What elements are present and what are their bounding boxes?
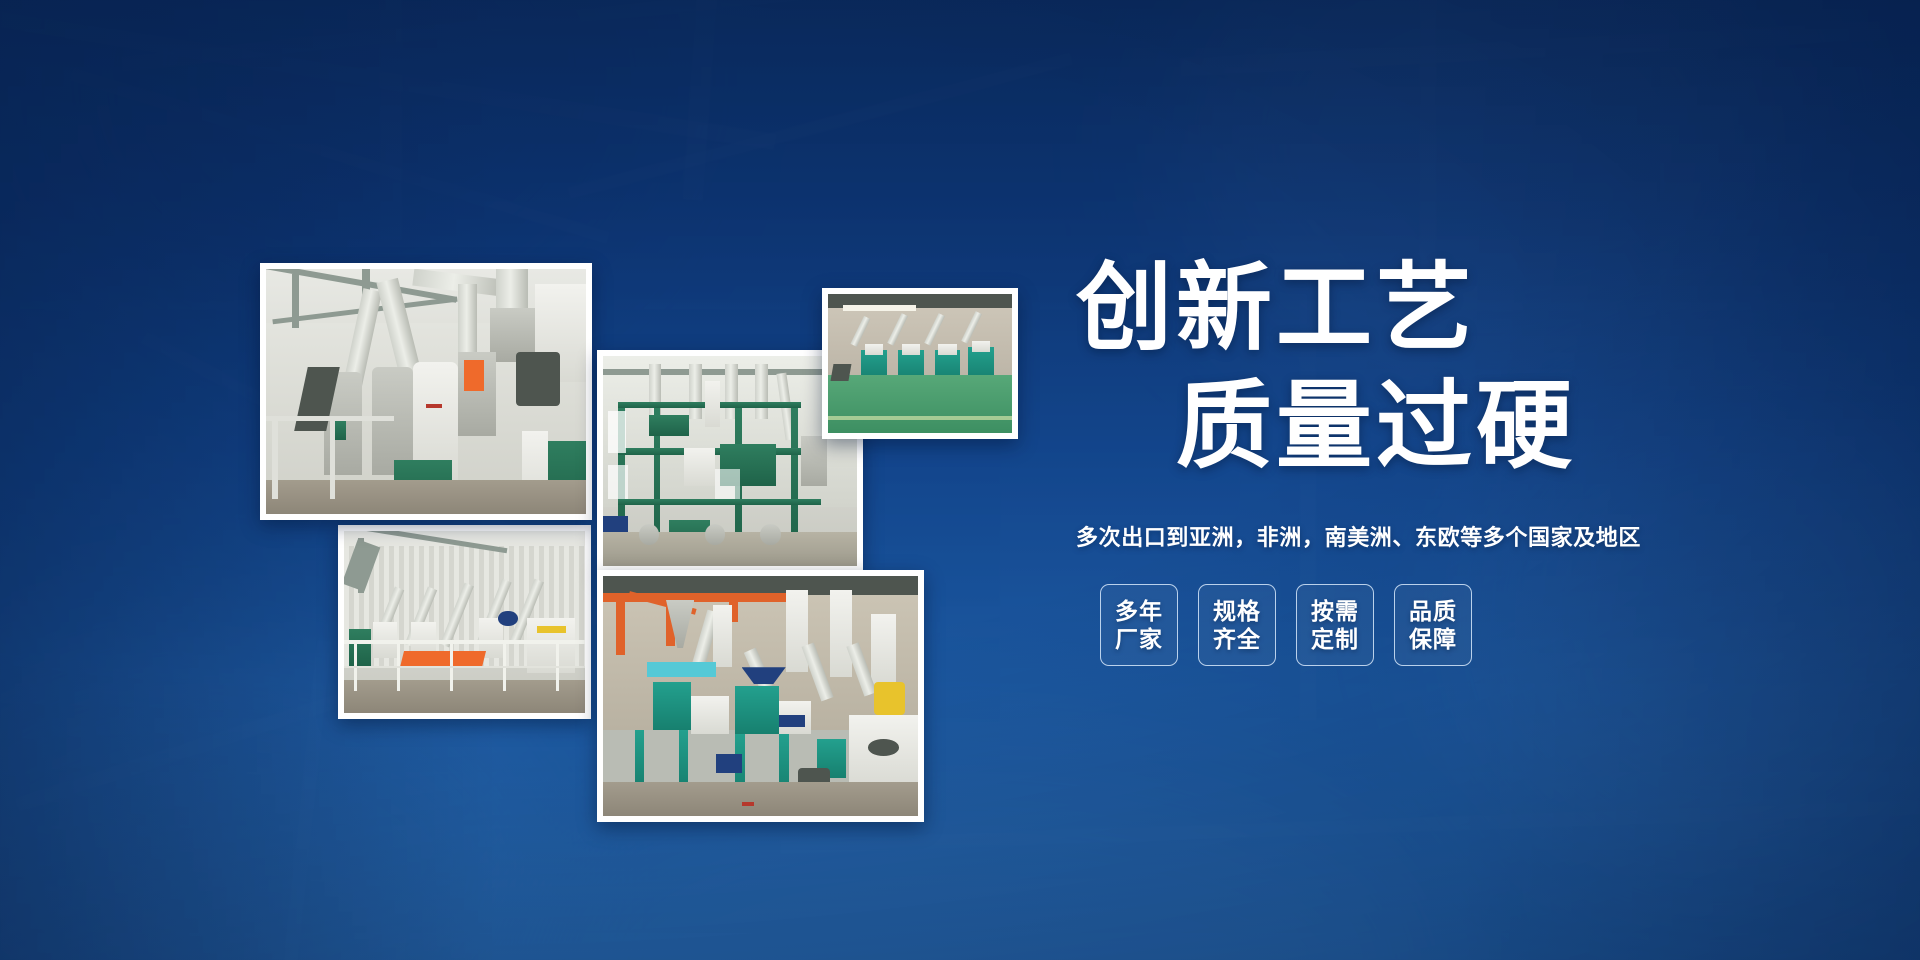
badge-line-1: 规格 xyxy=(1213,597,1261,625)
headline-line-1: 创新工艺 xyxy=(1072,250,1692,368)
badge-line-2: 保障 xyxy=(1409,625,1457,653)
page-title: 创新工艺 质量过硬 xyxy=(1072,250,1692,486)
photo-image xyxy=(828,294,1012,433)
badge-line-1: 品质 xyxy=(1409,597,1457,625)
banner-subtitle: 多次出口到亚洲，非洲，南美洲、东欧等多个国家及地区 xyxy=(1072,520,1692,552)
badge-line-2: 厂家 xyxy=(1115,625,1163,653)
badge-line-2: 齐全 xyxy=(1213,625,1261,653)
promo-banner: 创新工艺 质量过硬 多次出口到亚洲，非洲，南美洲、东欧等多个国家及地区 多年 厂… xyxy=(0,0,1920,960)
photo-mill-line-white[interactable] xyxy=(338,525,591,719)
badge-line-1: 按需 xyxy=(1311,597,1359,625)
photo-image xyxy=(603,576,918,816)
photo-mill-teal-floor[interactable] xyxy=(822,288,1018,439)
feature-badge-custom[interactable]: 按需 定制 xyxy=(1296,584,1374,666)
photo-image xyxy=(603,356,857,566)
feature-badge-years[interactable]: 多年 厂家 xyxy=(1100,584,1178,666)
badge-line-1: 多年 xyxy=(1115,597,1163,625)
photo-image xyxy=(266,269,586,514)
photo-image xyxy=(344,531,585,713)
feature-badge-specs[interactable]: 规格 齐全 xyxy=(1198,584,1276,666)
photo-mill-teal-orange[interactable] xyxy=(597,570,924,822)
headline-line-2: 质量过硬 xyxy=(1072,368,1692,486)
feature-badge-list: 多年 厂家 规格 齐全 按需 定制 品质 保障 xyxy=(1072,584,1692,666)
photo-mill-line-grey[interactable] xyxy=(260,263,592,520)
banner-content: 创新工艺 质量过硬 多次出口到亚洲，非洲，南美洲、东欧等多个国家及地区 多年 厂… xyxy=(1072,250,1692,666)
badge-line-2: 定制 xyxy=(1311,625,1359,653)
feature-badge-quality[interactable]: 品质 保障 xyxy=(1394,584,1472,666)
